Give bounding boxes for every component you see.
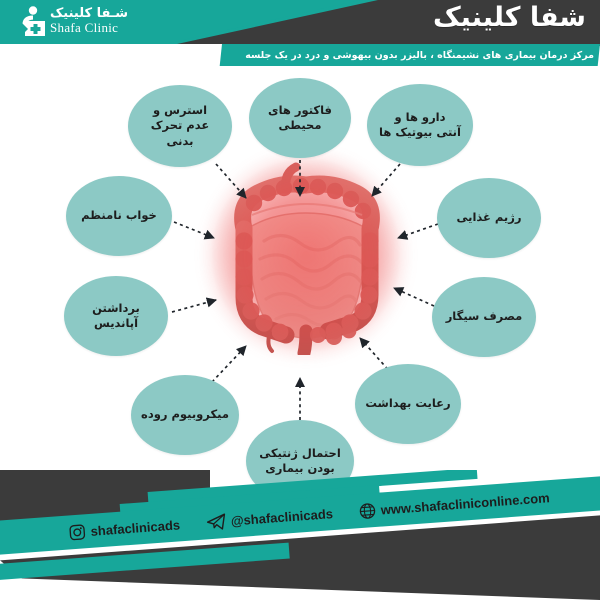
bubble-line: بدنی — [134, 134, 226, 149]
footer-telegram[interactable]: @shafaclinicads — [205, 505, 333, 531]
bubble-line: دارو ها و — [373, 110, 467, 125]
bubble-line: مصرف سیگار — [438, 309, 530, 324]
intestine-illustration — [208, 155, 404, 355]
bubble-sleep[interactable]: خواب نامنظم — [66, 176, 172, 256]
telegram-icon — [205, 512, 226, 530]
bubble-line: آنتی بیوتیک ها — [373, 125, 467, 140]
globe-icon — [358, 501, 376, 519]
infographic-canvas: استرس و عدم تحرک بدنی فاکتور های محیطی د… — [0, 0, 600, 600]
bubble-line: رژیم غذایی — [443, 210, 535, 225]
bubble-environment-label: فاکتور های محیطی — [255, 103, 345, 133]
bubble-microbiome-label: میکروبیوم روده — [137, 407, 233, 422]
bubble-line: آپاندیس — [70, 316, 162, 331]
bubble-appendix[interactable]: برداشتن آپاندیس — [64, 276, 168, 356]
website-url: www.shafacliniconline.com — [380, 490, 550, 517]
bubble-drugs[interactable]: دارو ها و آنتی بیوتیک ها — [367, 84, 473, 166]
bubble-smoking-label: مصرف سیگار — [438, 309, 530, 324]
organ-glow — [202, 149, 410, 361]
bubble-line: فاکتور های — [255, 103, 345, 118]
person-cross-icon — [12, 5, 46, 37]
logo[interactable]: شـفا کلینیک Shafa Clinic — [12, 5, 128, 37]
bubble-hygiene-label: رعایت بهداشت — [361, 396, 455, 411]
bubble-hygiene[interactable]: رعایت بهداشت — [355, 364, 461, 444]
instagram-icon — [68, 523, 86, 541]
bubble-appendix-label: برداشتن آپاندیس — [70, 301, 162, 331]
bubble-sleep-label: خواب نامنظم — [72, 208, 166, 223]
header-subtitle: مرکز درمان بیماری های نشیمنگاه ، بالیزر … — [228, 45, 598, 65]
bubble-line: میکروبیوم روده — [137, 407, 233, 422]
bubble-line: برداشتن — [70, 301, 162, 316]
bubble-microbiome[interactable]: میکروبیوم روده — [131, 375, 239, 455]
footer: shafaclinicads @shafaclinicads www.shafa… — [0, 470, 600, 600]
bubble-smoking[interactable]: مصرف سیگار — [432, 277, 536, 357]
page-title: شفا کلینیک — [433, 2, 586, 33]
instagram-handle: shafaclinicads — [90, 517, 180, 539]
logo-title-en: Shafa Clinic — [50, 21, 118, 35]
bubble-diet-label: رژیم غذایی — [443, 210, 535, 225]
telegram-handle: @shafaclinicads — [230, 506, 333, 528]
bubble-stress-label: استرس و عدم تحرک بدنی — [134, 103, 226, 149]
bubble-line: خواب نامنظم — [72, 208, 166, 223]
header: شفا کلینیک مرکز درمان بیماری های نشیمنگا… — [0, 0, 600, 86]
bubble-line: محیطی — [255, 118, 345, 133]
footer-instagram[interactable]: shafaclinicads — [68, 516, 181, 541]
bubble-line: رعایت بهداشت — [361, 396, 455, 411]
logo-title-fa: شـفا کلینیک — [50, 7, 128, 21]
bubble-line: استرس و — [134, 103, 226, 118]
bubble-drugs-label: دارو ها و آنتی بیوتیک ها — [373, 110, 467, 140]
bubble-stress[interactable]: استرس و عدم تحرک بدنی — [128, 85, 232, 167]
bubble-diet[interactable]: رژیم غذایی — [437, 178, 541, 258]
bubble-environment[interactable]: فاکتور های محیطی — [249, 78, 351, 158]
footer-website[interactable]: www.shafacliniconline.com — [358, 489, 550, 520]
logo-text: شـفا کلینیک Shafa Clinic — [50, 7, 128, 35]
bubble-line: احتمال ژنتیکی — [252, 446, 348, 461]
bubble-line: عدم تحرک — [134, 118, 226, 133]
